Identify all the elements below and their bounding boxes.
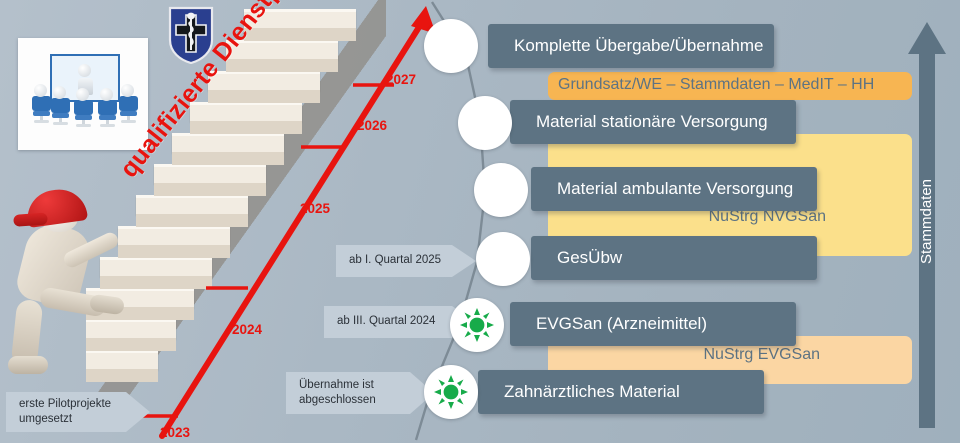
- chair: [51, 98, 70, 124]
- person-foot-back: [8, 356, 48, 374]
- stammdaten-label-wrap: Stammdaten: [906, 0, 948, 443]
- chair: [74, 100, 93, 126]
- meeting-room-photo: [18, 38, 148, 150]
- year-label-2023: 2023: [160, 425, 190, 440]
- milestone-box-material-ambulante[interactable]: Material ambulante Versorgung: [531, 167, 817, 211]
- sun-icon: [460, 308, 494, 342]
- attendee-figure: [100, 88, 113, 101]
- milestone-label: Zahnärztliches Material: [504, 382, 680, 402]
- chair: [32, 96, 51, 122]
- milestone-box-zahnaerztliches-material[interactable]: Zahnärztliches Material: [478, 370, 764, 414]
- callout-arrow-tip: [126, 392, 150, 432]
- callout-text: erste Pilotprojekteumgesetzt: [19, 397, 111, 427]
- milestone-node-empty-circle[interactable]: [476, 232, 530, 286]
- milestone-label: Komplette Übergabe/Übernahme: [514, 36, 763, 56]
- milestone-box-gesuebw[interactable]: GesÜbw: [531, 236, 817, 280]
- callout-text: Übernahme istabgeschlossen: [299, 378, 376, 408]
- attendee-figure: [53, 86, 66, 99]
- year-label-2024: 2024: [232, 322, 262, 337]
- milestone-node-empty-circle[interactable]: [424, 19, 478, 73]
- milestone-label: EVGSan (Arzneimittel): [536, 314, 707, 334]
- pilot-projects-callout: erste Pilotprojekteumgesetzt: [6, 392, 150, 432]
- attendee-figure: [76, 88, 89, 101]
- attendee-figure: [34, 84, 47, 97]
- chair: [119, 96, 138, 122]
- milestone-label: GesÜbw: [557, 248, 622, 268]
- band-grundsatz: Grundsatz/WE – Stammdaten – MedIT – HH: [548, 72, 912, 100]
- chair: [98, 100, 117, 126]
- year-label-2026: 2026: [357, 118, 387, 133]
- year-label-2025: 2025: [300, 201, 330, 216]
- slide-canvas: qualifizierte Dienstpostenbesetzung 2027…: [0, 0, 960, 443]
- person-climbing-stairs: [6, 196, 122, 396]
- stammdaten-label: Stammdaten: [919, 179, 936, 264]
- milestone-box-evgsan[interactable]: EVGSan (Arzneimittel): [510, 302, 796, 346]
- attendee-figure: [121, 84, 134, 97]
- milestone-label: Material stationäre Versorgung: [536, 112, 768, 132]
- sun-icon: [434, 375, 468, 409]
- milestone-label: Material ambulante Versorgung: [557, 179, 793, 199]
- milestone-node-empty-circle[interactable]: [458, 96, 512, 150]
- milestone-box-komplette-uebergabe[interactable]: Komplette Übergabe/Übernahme: [488, 24, 774, 68]
- milestone-box-material-stationaere[interactable]: Material stationäre Versorgung: [510, 100, 796, 144]
- milestone-node-empty-circle[interactable]: [474, 163, 528, 217]
- band-label: NuStrg EVGSan: [704, 346, 821, 364]
- band-label: Grundsatz/WE – Stammdaten – MedIT – HH: [558, 76, 874, 94]
